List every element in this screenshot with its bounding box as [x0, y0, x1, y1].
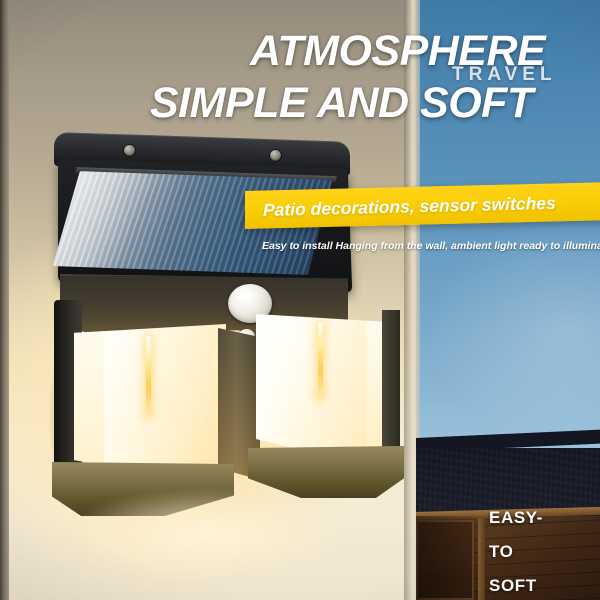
corner-word-2: TO [489, 542, 594, 562]
lamp-wall-light-pool [8, 484, 408, 600]
feature-subtitle: Easy to install Hanging from the wall, a… [262, 240, 600, 252]
left-lantern-filament [146, 336, 151, 418]
lamp-right-post [382, 310, 400, 462]
mounting-screw [270, 150, 281, 161]
corner-word-1: EASY- [489, 508, 594, 528]
right-lantern-head [256, 314, 396, 456]
right-lantern-filament [318, 322, 323, 400]
left-lantern-side-lens [74, 324, 104, 472]
corner-word-3: SOFT [489, 576, 594, 596]
screenshot-canvas: ATMOSPHERE TRAVEL SIMPLE AND SOFT Patio … [0, 0, 600, 600]
headline-line-2: SIMPLE AND SOFT [150, 82, 533, 125]
mounting-screw [124, 145, 135, 156]
corner-word-stack: EASY- TO SOFT [489, 508, 594, 596]
left-lantern-head [74, 324, 226, 472]
